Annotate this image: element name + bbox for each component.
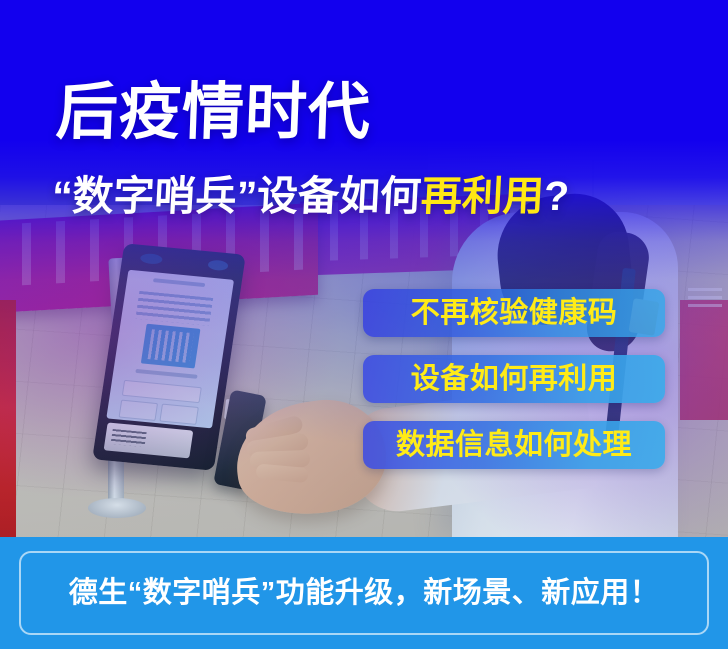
bottom-banner-text: 德生“数字哨兵”功能升级，新场景、新应用！ (69, 579, 660, 608)
page-subtitle: “数字哨兵”设备如何再利用? (51, 176, 570, 217)
kiosk-screen (106, 270, 234, 429)
question-pill-1[interactable]: 不再核验健康码 (363, 289, 665, 337)
kiosk-card-reader (104, 422, 194, 458)
subtitle-highlight: 再利用 (420, 173, 545, 219)
kiosk-screen-header (153, 278, 205, 287)
kiosk-screen-button-right (159, 404, 198, 425)
qr-code-icon (141, 324, 201, 369)
question-pill-3-label: 数据信息如何处理 (396, 431, 632, 460)
kiosk-base (88, 498, 146, 518)
wall-sign-text (688, 288, 722, 310)
question-pill-3[interactable]: 数据信息如何处理 (363, 421, 665, 469)
kiosk-sensor-icon (207, 259, 228, 271)
red-edge-strip (0, 300, 16, 537)
question-pill-1-label: 不再核验健康码 (411, 299, 618, 328)
question-list: 不再核验健康码 设备如何再利用 数据信息如何处理 (363, 289, 665, 469)
kiosk-screen-button-left (119, 400, 158, 421)
page-title: 后疫情时代 (55, 82, 372, 144)
question-pill-2[interactable]: 设备如何再利用 (363, 355, 665, 403)
kiosk-camera-icon (140, 253, 163, 265)
kiosk-screen-divider (135, 369, 197, 379)
poster-root: 后疫情时代 “数字哨兵”设备如何再利用? 不再核验健康码 设备如何再利用 数据信… (0, 0, 728, 649)
subtitle-suffix: ? (543, 173, 570, 219)
kiosk-screen-text (135, 291, 213, 326)
subtitle-prefix: “数字哨兵”设备如何 (51, 173, 422, 219)
wall-sign-red (680, 300, 728, 420)
question-pill-2-label: 设备如何再利用 (411, 365, 618, 394)
bottom-banner-frame: 德生“数字哨兵”功能升级，新场景、新应用！ (19, 551, 709, 635)
kiosk-screen-card (122, 380, 202, 403)
bottom-banner: 德生“数字哨兵”功能升级，新场景、新应用！ (0, 537, 728, 649)
